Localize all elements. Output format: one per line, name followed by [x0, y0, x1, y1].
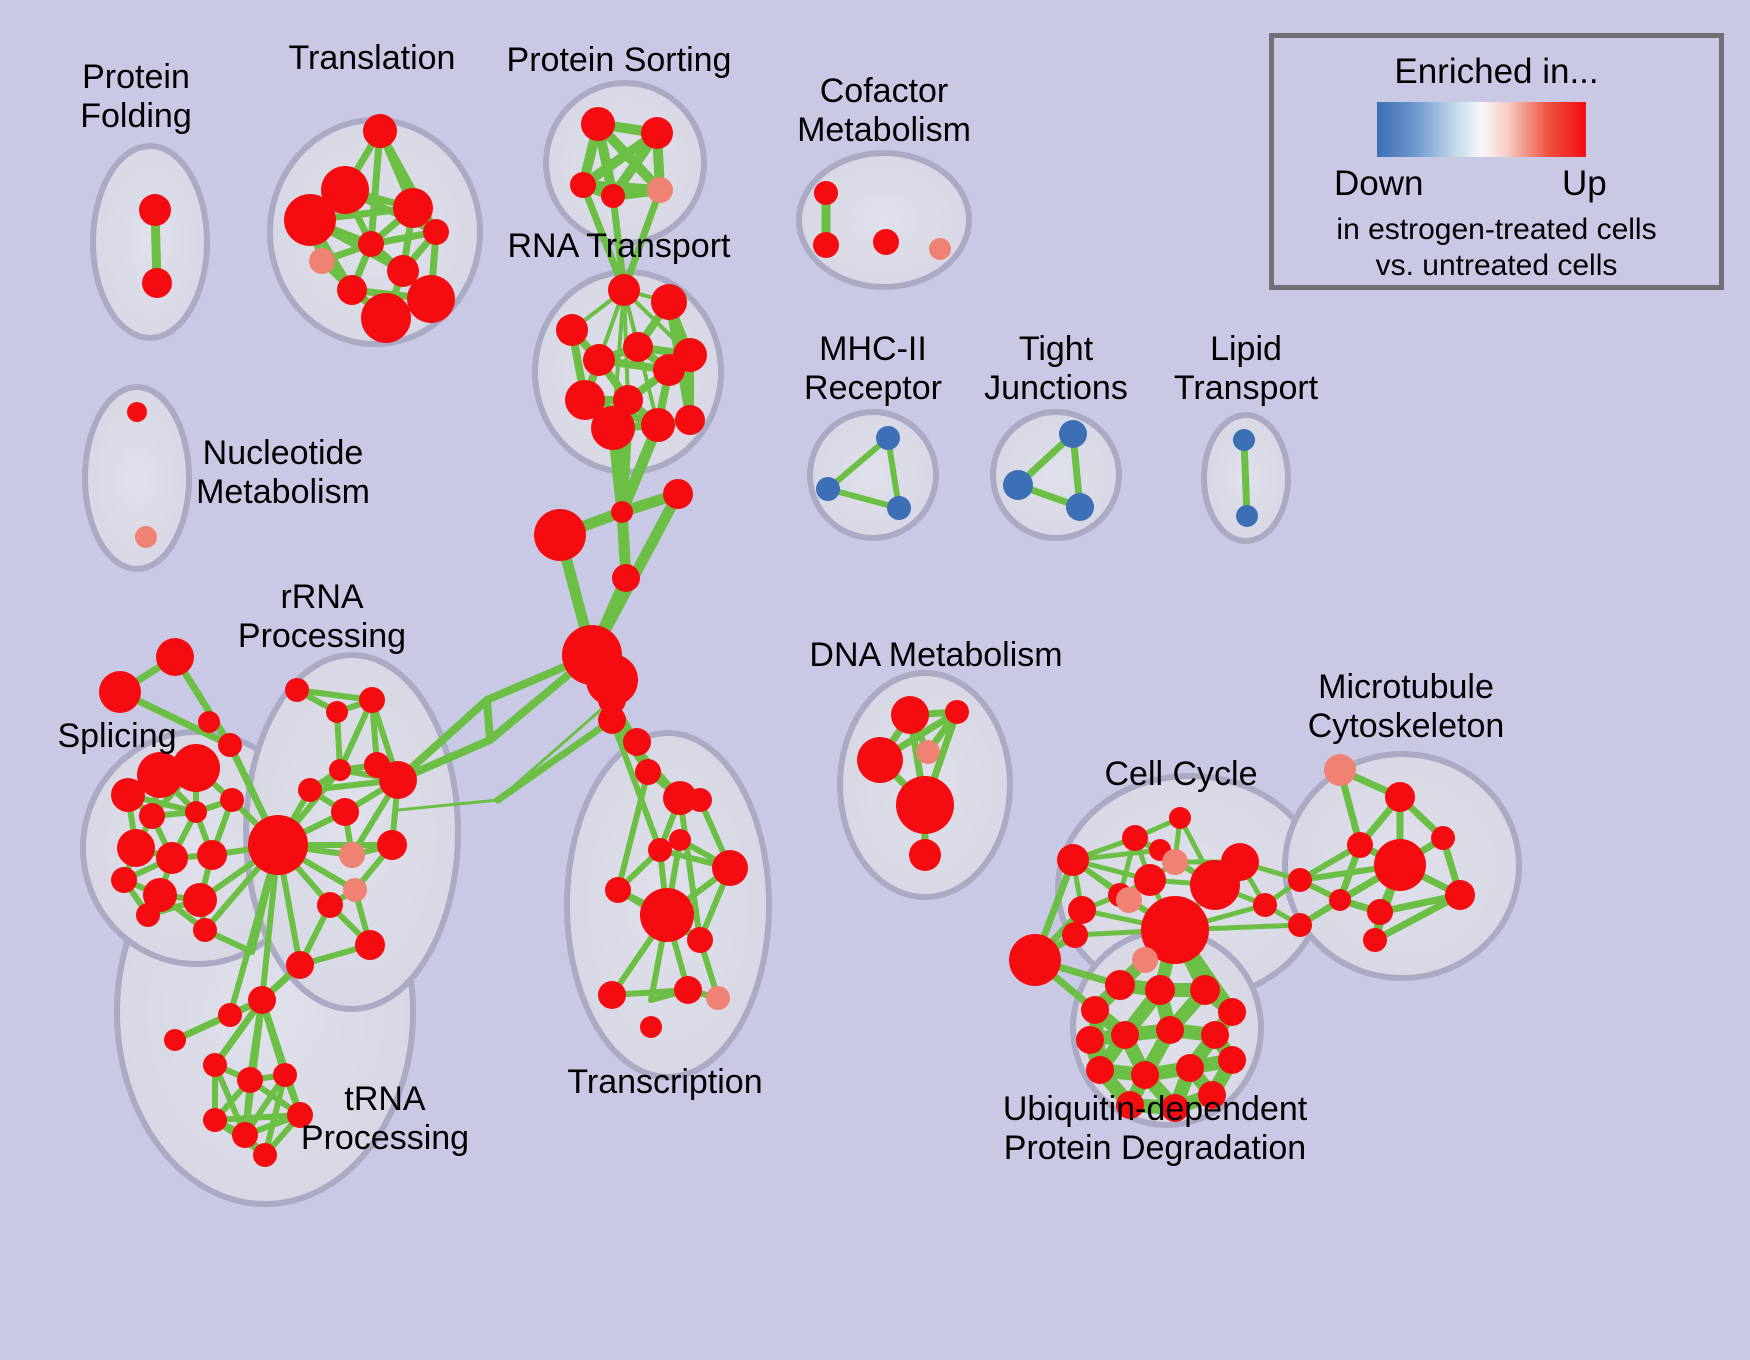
- node: [1105, 970, 1135, 1000]
- cluster-label-nucleotide-metabolism: Nucleotide Metabolism: [196, 434, 370, 512]
- node: [309, 248, 335, 274]
- legend-subtitle-line1: in estrogen-treated cells: [1274, 213, 1719, 247]
- node: [623, 332, 653, 362]
- legend-title: Enriched in...: [1274, 52, 1719, 92]
- node: [355, 930, 385, 960]
- legend-subtitle-line2: vs. untreated cells: [1274, 249, 1719, 283]
- cluster-label-protein-folding: Protein Folding: [80, 58, 192, 136]
- cluster-label-protein-sorting: Protein Sorting: [507, 41, 732, 80]
- node: [663, 479, 693, 509]
- node: [142, 268, 172, 298]
- node: [111, 867, 137, 893]
- node: [339, 842, 365, 868]
- node: [317, 892, 343, 918]
- node: [286, 951, 314, 979]
- node: [185, 801, 207, 823]
- legend-up-label: Up: [1562, 164, 1607, 204]
- node: [598, 706, 626, 734]
- cluster-label-splicing: Splicing: [57, 717, 176, 756]
- node: [1324, 754, 1356, 786]
- node: [379, 761, 417, 799]
- node: [1145, 975, 1175, 1005]
- node: [218, 733, 242, 757]
- node: [203, 1053, 227, 1077]
- node: [570, 172, 596, 198]
- node: [407, 275, 455, 323]
- node: [581, 107, 615, 141]
- node: [891, 696, 929, 734]
- node: [423, 219, 449, 245]
- node: [358, 231, 384, 257]
- cluster-label-dna-metabolism: DNA Metabolism: [809, 636, 1062, 675]
- cluster-label-tight-junctions: Tight Junctions: [984, 330, 1128, 408]
- cluster-label-transcription: Transcription: [567, 1063, 762, 1102]
- node: [248, 986, 276, 1014]
- node: [605, 877, 631, 903]
- node: [232, 1122, 258, 1148]
- cluster-label-trna-processing: tRNA Processing: [301, 1080, 469, 1158]
- node: [298, 778, 322, 802]
- node: [285, 678, 309, 702]
- node: [1218, 998, 1246, 1026]
- node: [1288, 913, 1312, 937]
- node: [139, 803, 165, 829]
- node: [601, 184, 625, 208]
- node: [945, 700, 969, 724]
- node: [641, 117, 673, 149]
- node: [816, 477, 840, 501]
- node: [1431, 826, 1455, 850]
- node: [674, 976, 702, 1004]
- node: [929, 238, 951, 260]
- node: [1116, 887, 1142, 913]
- cluster-label-rna-transport: RNA Transport: [508, 227, 731, 266]
- node: [1236, 505, 1258, 527]
- legend-panel: Enriched in... Down Up in estrogen-treat…: [1269, 33, 1724, 290]
- node: [1062, 922, 1088, 948]
- node: [1347, 832, 1373, 858]
- node: [284, 194, 336, 246]
- hull-mhc2: [810, 412, 936, 538]
- node: [1329, 889, 1351, 911]
- node: [99, 671, 141, 713]
- node: [640, 1016, 662, 1038]
- node: [1081, 996, 1109, 1024]
- hull-protein-folding: [93, 146, 207, 338]
- node: [1218, 1046, 1246, 1074]
- node: [635, 759, 661, 785]
- node: [857, 737, 903, 783]
- node: [873, 229, 899, 255]
- node: [135, 526, 157, 548]
- node: [1132, 947, 1158, 973]
- node: [220, 788, 244, 812]
- node: [183, 883, 217, 917]
- node: [329, 759, 351, 781]
- node: [172, 744, 220, 792]
- node: [647, 177, 673, 203]
- cluster-label-microtubule-cytoskeleton: Microtubule Cytoskeleton: [1308, 668, 1505, 746]
- node: [887, 496, 911, 520]
- node: [193, 918, 217, 942]
- node: [876, 426, 900, 450]
- node: [1367, 899, 1393, 925]
- node: [253, 1143, 277, 1167]
- node: [556, 314, 588, 346]
- node: [612, 564, 640, 592]
- hull-protein-sorting: [546, 83, 704, 243]
- node: [675, 405, 705, 435]
- node: [156, 842, 188, 874]
- node: [651, 284, 687, 320]
- cluster-label-lipid-transport: Lipid Transport: [1174, 330, 1318, 408]
- legend-down-label: Down: [1334, 164, 1423, 204]
- node: [117, 829, 155, 867]
- node: [1134, 864, 1166, 896]
- cluster-label-mhc-ii-receptor: MHC-II Receptor: [804, 330, 942, 408]
- node: [648, 838, 672, 862]
- node: [598, 981, 626, 1009]
- node: [712, 850, 748, 886]
- node: [1363, 928, 1387, 952]
- node: [641, 408, 675, 442]
- node: [156, 638, 194, 676]
- node: [591, 406, 635, 450]
- node: [363, 114, 397, 148]
- node: [197, 840, 227, 870]
- node: [1176, 1054, 1204, 1082]
- node: [1385, 782, 1415, 812]
- cluster-label-ubiquitin-protein-degradation: Ubiquitin-dependent Protein Degradation: [1003, 1090, 1307, 1168]
- node: [688, 788, 712, 812]
- cluster-label-cofactor-metabolism: Cofactor Metabolism: [797, 72, 971, 150]
- node: [608, 274, 640, 306]
- node: [1068, 896, 1096, 924]
- node: [361, 293, 411, 343]
- node: [1086, 1056, 1114, 1084]
- node: [326, 701, 348, 723]
- color-scale-bar: [1377, 102, 1586, 157]
- node: [164, 1029, 186, 1051]
- node: [1076, 1026, 1104, 1054]
- node: [583, 344, 615, 376]
- node: [1288, 868, 1312, 892]
- node: [359, 687, 385, 713]
- node: [1156, 1016, 1184, 1044]
- node: [706, 986, 730, 1010]
- node: [343, 878, 367, 902]
- network-figure: Protein Folding Translation Protein Sort…: [0, 0, 1750, 1360]
- node: [203, 1108, 227, 1132]
- node: [814, 181, 838, 205]
- cluster-label-cell-cycle: Cell Cycle: [1104, 755, 1257, 794]
- node: [1111, 1021, 1139, 1049]
- node: [669, 829, 691, 851]
- node: [1009, 934, 1061, 986]
- node: [640, 888, 694, 942]
- node: [813, 232, 839, 258]
- node: [623, 728, 651, 756]
- node: [273, 1063, 297, 1087]
- node: [337, 275, 367, 305]
- node: [896, 776, 954, 834]
- node: [1190, 975, 1220, 1005]
- node: [653, 354, 685, 386]
- node: [1066, 493, 1094, 521]
- node: [1253, 893, 1277, 917]
- node: [1221, 843, 1259, 881]
- node: [111, 778, 145, 812]
- node: [127, 402, 147, 422]
- node: [1131, 1061, 1159, 1089]
- node: [1003, 470, 1033, 500]
- node: [237, 1067, 263, 1093]
- node: [331, 798, 359, 826]
- node: [1169, 807, 1191, 829]
- node: [1162, 849, 1188, 875]
- node: [1122, 825, 1148, 851]
- node: [139, 194, 171, 226]
- node: [218, 1003, 242, 1027]
- node: [687, 927, 713, 953]
- node: [1445, 880, 1475, 910]
- node: [393, 188, 433, 228]
- node: [916, 740, 940, 764]
- node: [1057, 844, 1089, 876]
- node: [909, 839, 941, 871]
- node: [136, 903, 160, 927]
- node: [1233, 429, 1255, 451]
- node: [377, 830, 407, 860]
- node: [534, 509, 586, 561]
- node: [1374, 839, 1426, 891]
- node: [1059, 420, 1087, 448]
- node: [198, 711, 220, 733]
- node: [611, 501, 633, 523]
- node: [1201, 1021, 1229, 1049]
- cluster-label-translation: Translation: [289, 39, 456, 78]
- cluster-label-rrna-processing: rRNA Processing: [238, 578, 406, 656]
- node: [248, 815, 308, 875]
